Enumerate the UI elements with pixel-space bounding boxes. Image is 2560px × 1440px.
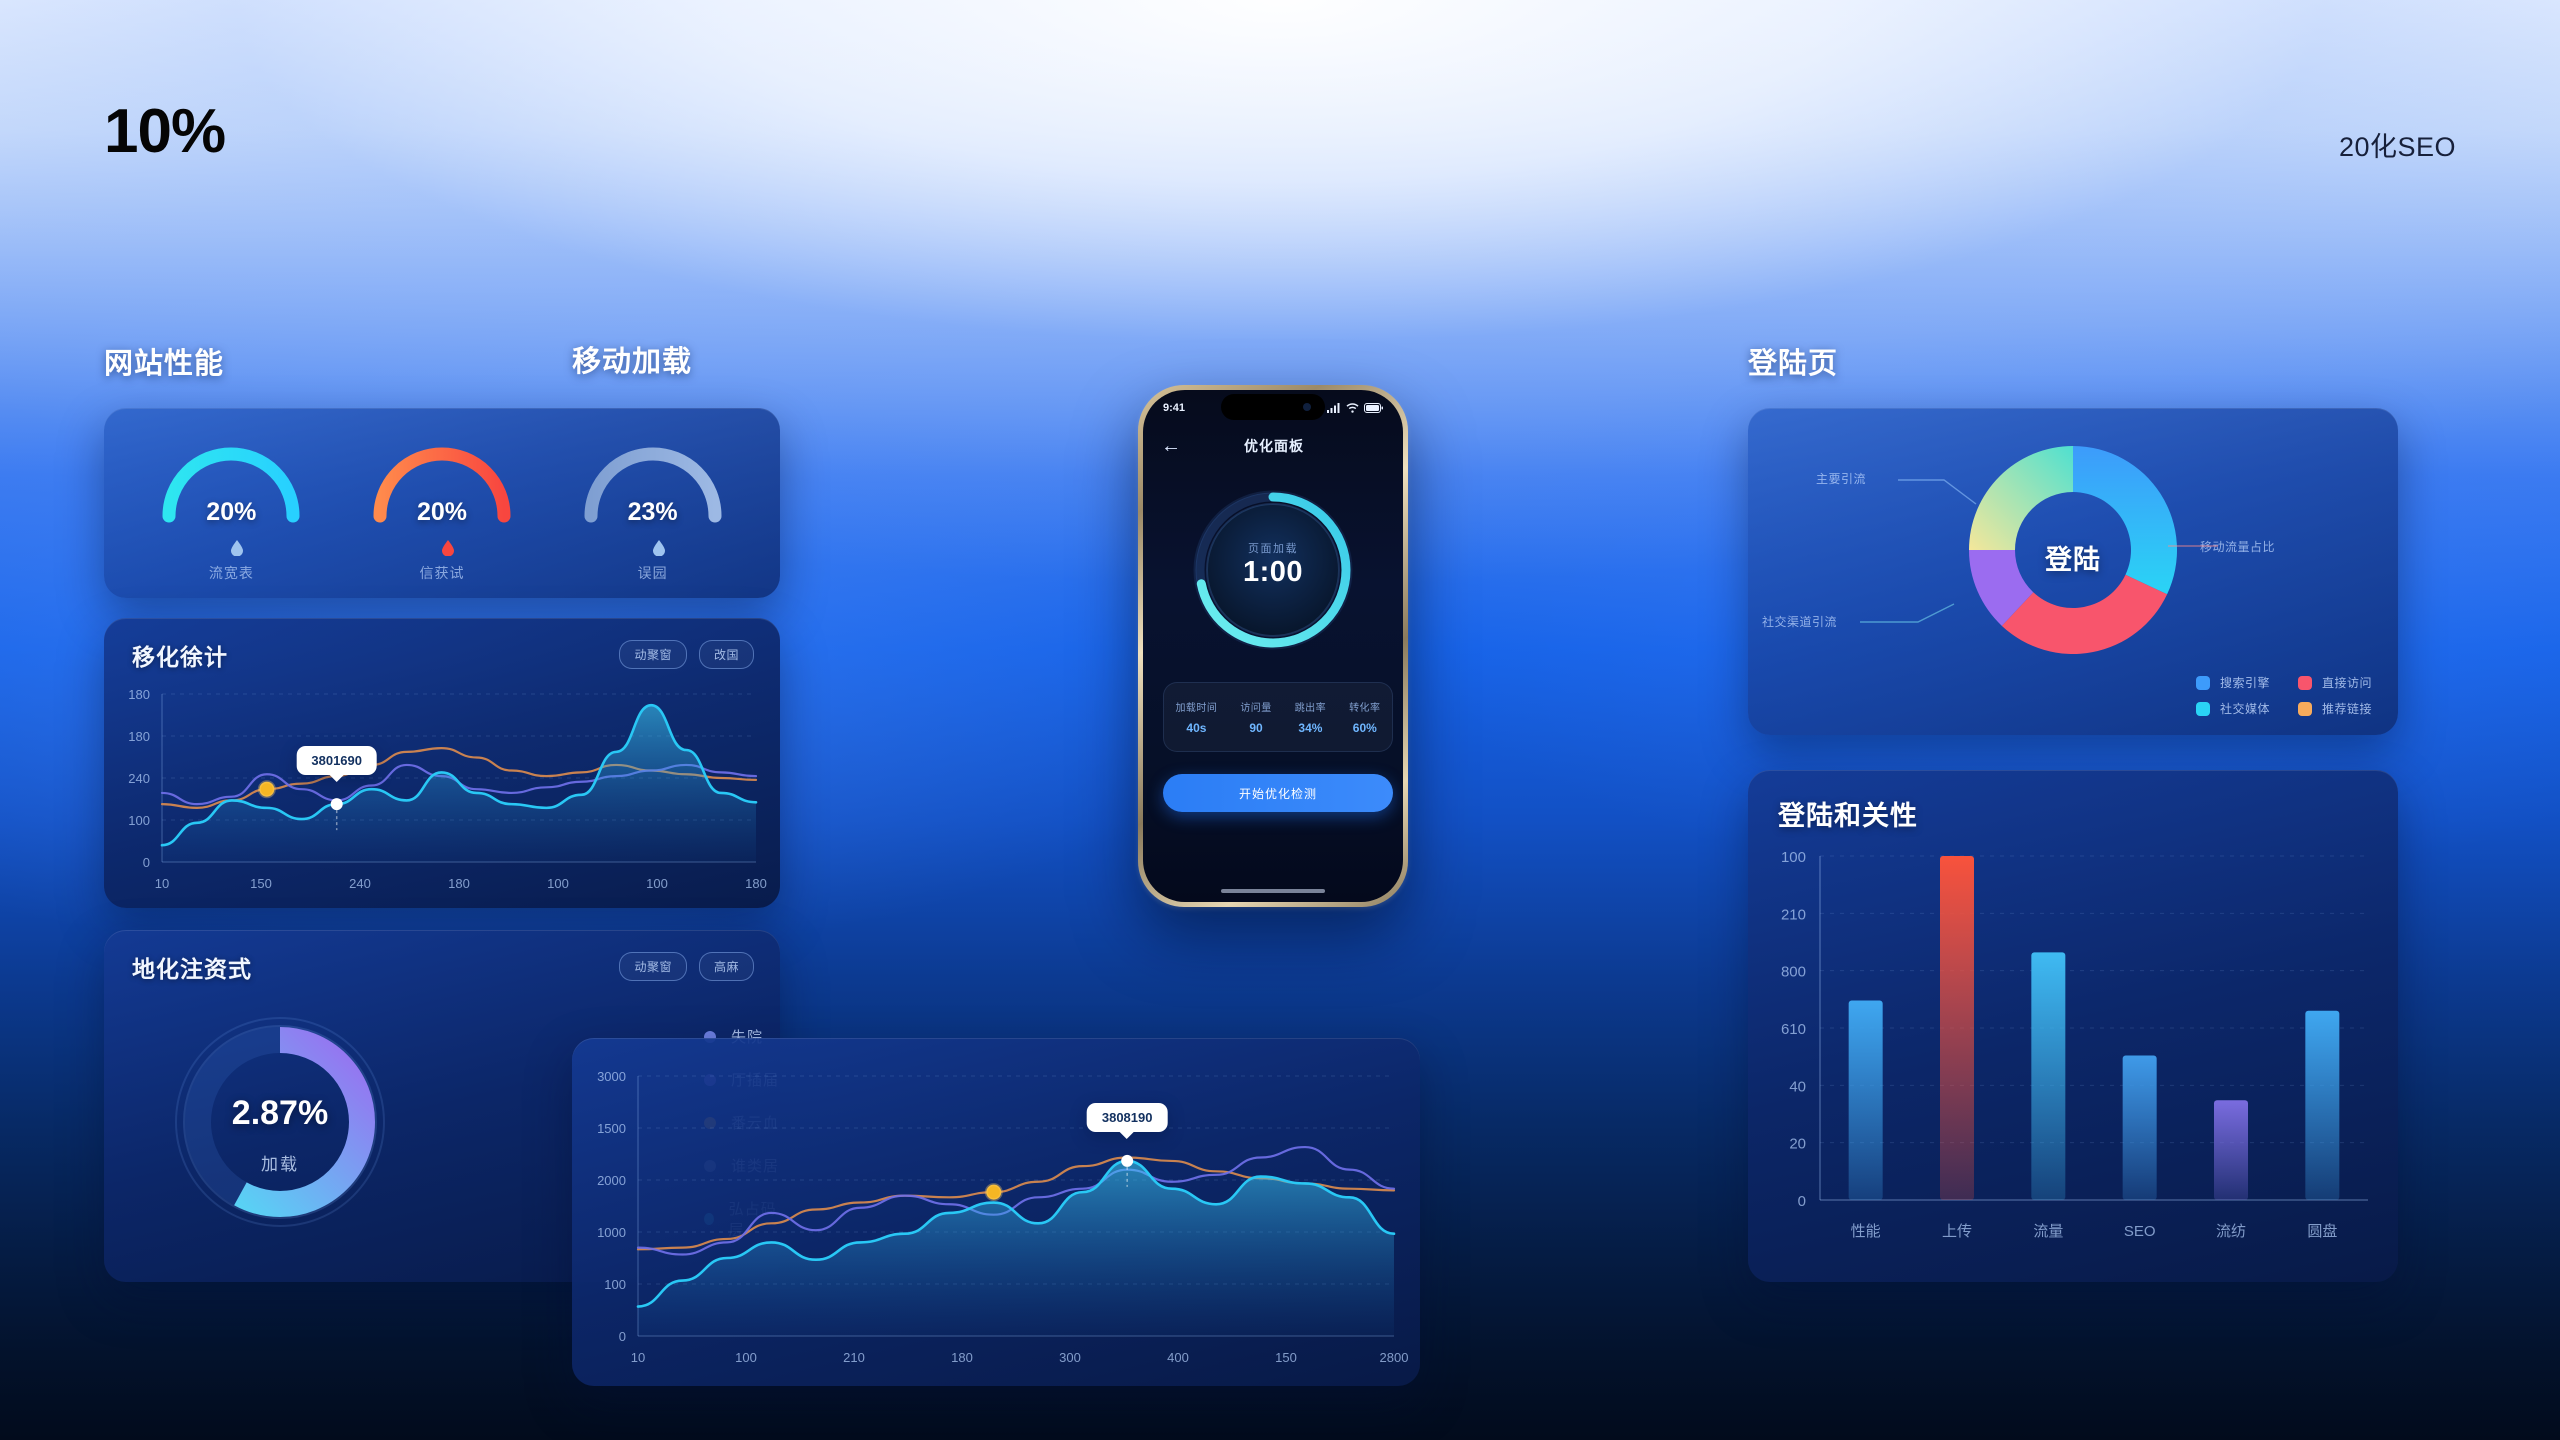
legend-label: 社交媒体 [2220, 700, 2270, 717]
donut-filter-button-2[interactable]: 高麻 [699, 952, 754, 981]
phone-progress-ring: 页面加载 1:00 [1185, 482, 1361, 658]
mobile-trend-chart-card: 0100100020001500300010100210180300400150… [572, 1038, 1420, 1386]
legend-item[interactable]: 直接访问 [2298, 674, 2372, 691]
header-label: 20化SEO [2339, 125, 2456, 164]
legend-item[interactable]: 社交媒体 [2196, 700, 2270, 717]
svg-text:210: 210 [843, 1350, 865, 1365]
svg-text:100: 100 [604, 1277, 626, 1292]
phone-stat-value: 60% [1349, 721, 1381, 735]
phone-cta-button[interactable]: 开始优化检测 [1163, 774, 1393, 812]
legend-swatch-icon [2298, 702, 2312, 716]
water-drop-icon [224, 532, 238, 548]
svg-text:圆盘: 圆盘 [2307, 1222, 2337, 1240]
landing-donut-center-label: 登陆 [2045, 538, 2101, 577]
donut-callout-label: 移动流量占比 [2200, 538, 2275, 555]
home-indicator [1221, 889, 1325, 893]
svg-text:100: 100 [1781, 849, 1806, 866]
phone-stat-key: 跳出率 [1295, 699, 1327, 714]
svg-text:180: 180 [128, 729, 150, 744]
trend-chart-tooltip: 3801690 [296, 746, 377, 775]
phone-stat: 转化率60% [1349, 699, 1381, 735]
donut-card-title: 地化注资式 [132, 950, 252, 984]
phone-page-title: 优化面板 [1181, 436, 1367, 456]
svg-text:180: 180 [448, 876, 470, 891]
svg-text:流量: 流量 [2033, 1223, 2063, 1240]
wifi-icon [1346, 403, 1359, 413]
donut-filter-button-1[interactable]: 动聚窗 [619, 952, 687, 981]
svg-text:2000: 2000 [597, 1173, 626, 1188]
pie-slice[interactable] [1969, 446, 2073, 550]
gauge-value: 20% [145, 498, 317, 527]
svg-text:1500: 1500 [597, 1121, 626, 1136]
donut-chart: 2.87% 加载 [160, 1002, 400, 1242]
gauge-row: 20%流宽表20%信获试23%误园 [104, 408, 780, 598]
gauge-arc-icon [151, 436, 311, 546]
svg-text:10: 10 [155, 876, 169, 891]
svg-text:0: 0 [143, 855, 150, 870]
phone-stat-key: 加载时间 [1175, 699, 1217, 714]
legend-swatch-icon [2196, 702, 2210, 716]
water-drop-icon [435, 532, 449, 548]
bar[interactable] [1849, 1000, 1883, 1200]
bar[interactable] [2305, 1011, 2339, 1200]
phone-nav-bar: ← 优化面板 [1143, 430, 1403, 462]
svg-text:SEO: SEO [2124, 1223, 2156, 1240]
landing-donut-legend: 搜索引擎直接访问社交媒体推荐链接 [2196, 674, 2372, 717]
svg-text:180: 180 [951, 1350, 973, 1365]
bar[interactable] [1940, 856, 1974, 1200]
svg-text:100: 100 [128, 813, 150, 828]
svg-text:3000: 3000 [597, 1069, 626, 1084]
donut-card-buttons: 动聚窗 高麻 [619, 952, 754, 981]
trend-chart-card: 移化徐计 动聚窗 改国 0100240180180101502401801001… [104, 618, 780, 908]
donut-callout-label: 主要引流 [1816, 470, 1866, 487]
donut-callout-label: 社交渠道引流 [1762, 613, 1837, 630]
gauges-card: 20%流宽表20%信获试23%误园 [104, 408, 780, 598]
bars-card: 登陆和关性 02040610800210100性能上传流量SEO流纺圆盘 [1748, 770, 2398, 1282]
section-title-website-performance: 网站性能 [104, 340, 224, 382]
dashboard-page: 10% 20化SEO 网站性能 移动加载 登陆页 20%流宽表20%信获试23%… [0, 0, 2560, 1440]
bar[interactable] [2123, 1056, 2157, 1200]
page-title: 10% [104, 96, 225, 167]
gauge-arc-icon [362, 436, 522, 546]
phone-stat: 加载时间40s [1175, 699, 1217, 735]
gauge-label: 误园 [567, 563, 739, 583]
svg-text:180: 180 [128, 687, 150, 702]
bars-chart-svg: 02040610800210100性能上传流量SEO流纺圆盘 [1748, 770, 2398, 1282]
svg-text:0: 0 [1798, 1193, 1806, 1210]
phone-stat-key: 转化率 [1349, 699, 1381, 714]
bar[interactable] [2031, 952, 2065, 1200]
gauge-label: 流宽表 [145, 563, 317, 583]
svg-text:210: 210 [1781, 906, 1806, 923]
gauge-0: 20%流宽表 [145, 428, 317, 578]
svg-text:180: 180 [745, 876, 767, 891]
svg-text:40: 40 [1789, 1078, 1806, 1095]
svg-text:2800: 2800 [1380, 1350, 1409, 1365]
gauge-value: 23% [567, 498, 739, 527]
phone-stats-panel: 加载时间40s访问量90跳出率34%转化率60% [1163, 682, 1393, 752]
phone-stat-value: 34% [1295, 721, 1327, 735]
water-drop-icon [646, 532, 660, 548]
svg-text:10: 10 [631, 1350, 645, 1365]
svg-text:流纺: 流纺 [2216, 1223, 2246, 1240]
trend-chart-svg: 010024018018010150240180100100180 [104, 618, 780, 908]
svg-text:400: 400 [1167, 1350, 1189, 1365]
phone-stat: 访问量90 [1240, 699, 1272, 735]
phone-stat-value: 40s [1175, 721, 1217, 735]
legend-swatch-icon [2196, 676, 2210, 690]
svg-text:0: 0 [619, 1329, 626, 1344]
svg-text:100: 100 [646, 876, 668, 891]
svg-text:性能: 性能 [1851, 1223, 1881, 1240]
svg-text:800: 800 [1781, 964, 1806, 981]
svg-text:1000: 1000 [597, 1225, 626, 1240]
back-arrow-icon[interactable]: ← [1161, 436, 1181, 456]
svg-text:300: 300 [1059, 1350, 1081, 1365]
section-title-landing-page: 登陆页 [1748, 340, 1838, 382]
svg-text:上传: 上传 [1942, 1223, 1972, 1240]
legend-swatch-icon [2298, 676, 2312, 690]
gauge-label: 信获试 [356, 563, 528, 583]
battery-icon [1364, 403, 1383, 413]
phone-stat: 跳出率34% [1295, 699, 1327, 735]
landing-donut-card: 登陆 主要引流移动流量占比社交渠道引流 搜索引擎直接访问社交媒体推荐链接 [1748, 408, 2398, 735]
status-time: 9:41 [1163, 402, 1185, 414]
legend-item[interactable]: 搜索引擎 [2196, 674, 2270, 691]
phone-ring-value: 1:00 [1185, 556, 1361, 589]
svg-text:240: 240 [349, 876, 371, 891]
status-icons [1327, 403, 1383, 413]
gauge-value: 20% [356, 498, 528, 527]
phone-ring-label: 页面加载 [1185, 540, 1361, 556]
section-title-mobile-loading: 移动加载 [572, 338, 692, 380]
signal-icon [1327, 403, 1341, 413]
phone-mockup: 9:41 [1138, 385, 1408, 907]
svg-text:150: 150 [1275, 1350, 1297, 1365]
svg-text:20: 20 [1789, 1136, 1806, 1153]
legend-label: 搜索引擎 [2220, 674, 2270, 691]
phone-status-bar: 9:41 [1143, 397, 1403, 419]
mobile-trend-chart-svg: 0100100020001500300010100210180300400150… [572, 1038, 1420, 1386]
bar[interactable] [2214, 1100, 2248, 1200]
svg-text:150: 150 [250, 876, 272, 891]
legend-item[interactable]: 推荐链接 [2298, 700, 2372, 717]
donut-center-label: 加载 [160, 1150, 400, 1175]
phone-stat-key: 访问量 [1240, 699, 1272, 714]
mobile-trend-tooltip: 3808190 [1087, 1103, 1168, 1132]
legend-label: 直接访问 [2322, 674, 2372, 691]
svg-text:240: 240 [128, 771, 150, 786]
gauge-arc-icon [573, 436, 733, 546]
gauge-1: 20%信获试 [356, 428, 528, 578]
svg-text:100: 100 [547, 876, 569, 891]
svg-text:610: 610 [1781, 1021, 1806, 1038]
phone-screen: 9:41 [1143, 390, 1403, 902]
gauge-2: 23%误园 [567, 428, 739, 578]
donut-center-value: 2.87% [160, 1094, 400, 1133]
legend-label: 推荐链接 [2322, 700, 2372, 717]
svg-text:100: 100 [735, 1350, 757, 1365]
phone-stat-value: 90 [1240, 721, 1272, 735]
